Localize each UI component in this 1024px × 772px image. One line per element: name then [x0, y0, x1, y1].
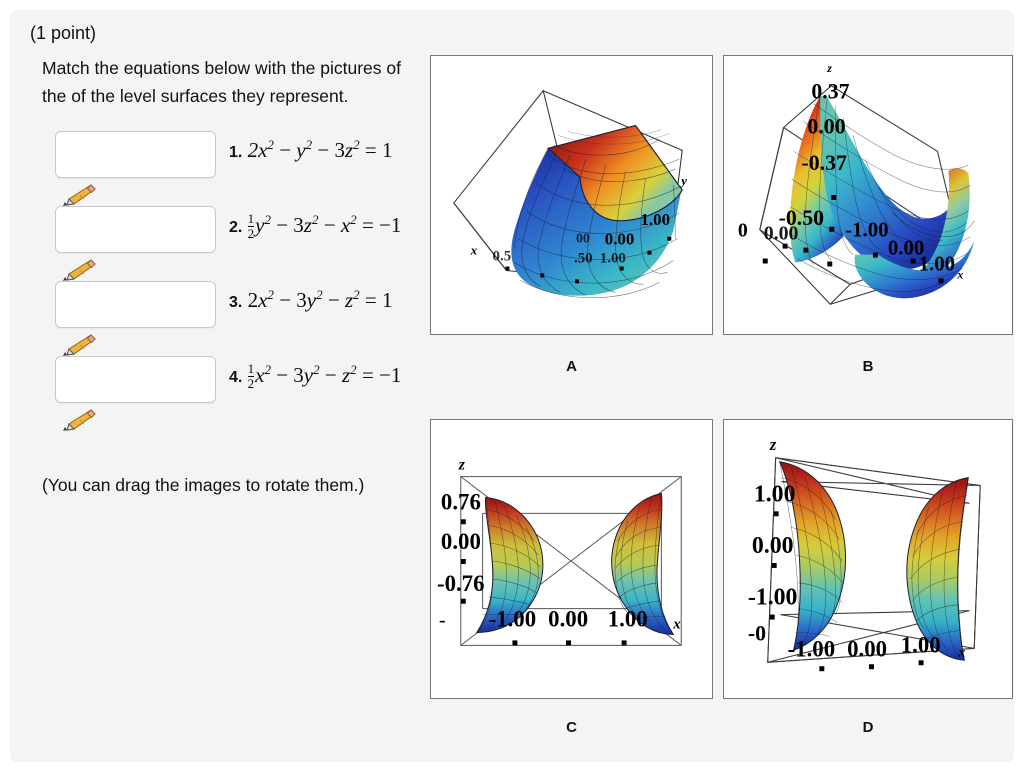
tick-d-4: -0 — [748, 621, 766, 645]
tick-b-9: 1.00 — [919, 251, 955, 275]
tick-c-1: 0.76 — [441, 489, 481, 514]
answer-input-1[interactable] — [56, 132, 216, 177]
tick-a-1: 1.00 — [641, 210, 671, 229]
axis-label-c-x: x — [672, 617, 681, 633]
plot-b-svg[interactable]: 0.37 0.00 -0.37 -0.50 0.00 0 -1.00 0.00 … — [724, 56, 1012, 334]
answer-field-2[interactable] — [55, 206, 216, 253]
plot-d-svg[interactable]: z 1.00 0.00 -1.00 -0 -1.00 0.00 1.00 x — [724, 420, 1012, 698]
match-row: 3. 2x2 − 3y2 − z2 = 1 — [24, 281, 454, 356]
axis-label-c-z: z — [458, 457, 466, 474]
plot-c-svg[interactable]: z 0.76 0.00 -0.76 - -1.00 0.00 1.00 x — [431, 420, 712, 698]
pencil-icon — [58, 258, 98, 282]
panel-label-c: C — [430, 719, 713, 736]
tick-c-4: - — [439, 610, 446, 632]
pencil-icon — [58, 333, 98, 357]
equation-2: 2. 12y2 − 3z2 − x2 = −1 — [229, 212, 401, 240]
axis-label-d-z: z — [769, 435, 777, 454]
axis-label-a-y: y — [679, 174, 687, 188]
tick-d-5: -1.00 — [788, 636, 836, 661]
match-row: 4. 12x2 − 3y2 − z2 = −1 — [24, 356, 454, 431]
answer-field-4[interactable] — [55, 356, 216, 403]
tick-d-6: 0.00 — [847, 636, 887, 661]
rotate-hint: (You can drag the images to rotate them.… — [42, 475, 364, 496]
equation-3: 3. 2x2 − 3y2 − z2 = 1 — [229, 287, 393, 313]
prompt-line-1: Match the equations below with the pictu… — [42, 54, 432, 82]
tick-c-6: 0.00 — [548, 607, 588, 632]
tick-a-4: 1.00 — [600, 251, 626, 267]
tick-c-3: -0.76 — [437, 571, 485, 596]
tick-c-7: 1.00 — [608, 607, 648, 632]
tick-b-3: -0.37 — [801, 151, 847, 175]
axis-label-b-x: x — [956, 267, 963, 281]
answer-input-2[interactable] — [56, 207, 216, 252]
question-prompt: Match the equations below with the pictu… — [42, 54, 432, 111]
tick-b-6: 0 — [738, 220, 748, 242]
equation-4: 4. 12x2 − 3y2 − z2 = −1 — [229, 362, 401, 390]
axis-label-a-x: x — [470, 244, 478, 258]
tick-b-1: 0.37 — [811, 80, 849, 104]
axis-label-d-x: x — [957, 645, 965, 660]
panel-label-b: B — [723, 358, 1013, 375]
answer-field-3[interactable] — [55, 281, 216, 328]
prompt-line-2: the of the level surfaces they represent… — [42, 82, 432, 110]
plot-panel-b[interactable]: 0.37 0.00 -0.37 -0.50 0.00 0 -1.00 0.00 … — [723, 55, 1013, 335]
pencil-icon — [58, 408, 98, 432]
axis-label-b-z: z — [826, 61, 832, 75]
equation-1: 1. 2x2 − y2 − 3z2 = 1 — [229, 137, 393, 163]
tick-c-2: 0.00 — [441, 529, 481, 554]
tick-a-2: 0.00 — [605, 230, 635, 249]
pencil-icon — [58, 183, 98, 207]
tick-d-2: 0.00 — [752, 533, 794, 559]
tick-a-3: .50 — [574, 251, 593, 267]
tick-d-1: 1.00 — [754, 481, 796, 507]
tick-a-5: 00 — [576, 232, 590, 247]
plot-panel-d[interactable]: z 1.00 0.00 -1.00 -0 -1.00 0.00 1.00 x — [723, 419, 1013, 699]
points-label: (1 point) — [30, 23, 444, 44]
answer-input-4[interactable] — [56, 357, 216, 402]
plot-panel-a[interactable]: 1.00 0.00 .50 1.00 00 0.5 y x — [430, 55, 713, 335]
tick-b-5: 0.00 — [764, 223, 799, 245]
tick-b-2: 0.00 — [807, 114, 845, 138]
panel-label-d: D — [723, 719, 1013, 736]
match-list: 1. 2x2 − y2 − 3z2 = 1 — [24, 131, 454, 431]
plot-panel-c[interactable]: z 0.76 0.00 -0.76 - -1.00 0.00 1.00 x — [430, 419, 713, 699]
match-row: 1. 2x2 − y2 − 3z2 = 1 — [24, 131, 454, 206]
plot-a-svg[interactable]: 1.00 0.00 .50 1.00 00 0.5 y x — [431, 56, 712, 334]
tick-d-3: -1.00 — [748, 585, 798, 611]
match-row: 2. 12y2 − 3z2 − x2 = −1 — [24, 206, 454, 281]
question-left-column: (1 point) Match the equations below with… — [24, 23, 444, 111]
tick-d-7: 1.00 — [901, 632, 941, 657]
tick-a-6: 0.5 — [493, 249, 512, 265]
tick-c-5: -1.00 — [489, 607, 537, 632]
tick-b-7: -1.00 — [845, 218, 888, 242]
panel-label-a: A — [430, 358, 713, 375]
answer-field-1[interactable] — [55, 131, 216, 178]
answer-input-3[interactable] — [56, 282, 216, 327]
